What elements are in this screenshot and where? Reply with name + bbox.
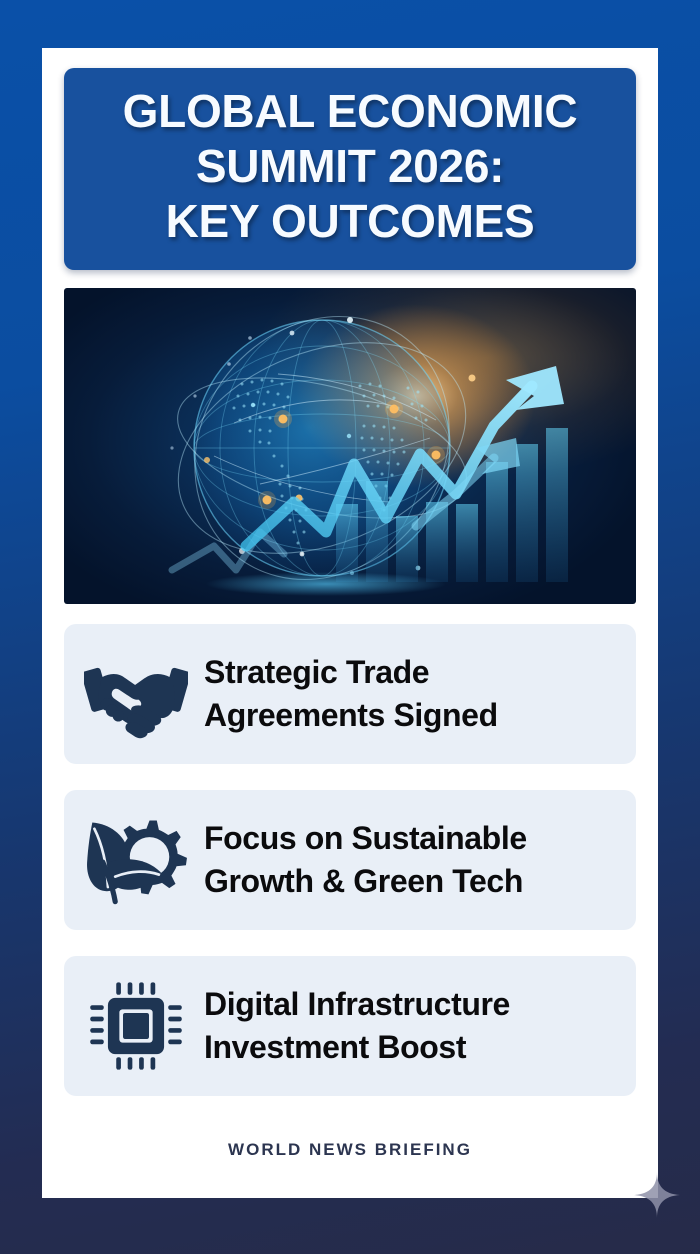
hero-image xyxy=(64,288,636,604)
outcome-label-line-1: Strategic Trade xyxy=(204,654,429,690)
page-title: GLOBAL ECONOMIC SUMMIT 2026: KEY OUTCOME… xyxy=(82,84,618,250)
outcome-label: Strategic Trade Agreements Signed xyxy=(204,651,498,736)
outcome-label-line-2: Growth & Green Tech xyxy=(204,863,523,899)
page-title-line-1: GLOBAL ECONOMIC xyxy=(82,84,618,139)
page-title-line-3: KEY OUTCOMES xyxy=(82,194,618,249)
outcome-label-line-1: Focus on Sustainable xyxy=(204,820,527,856)
outcome-label-line-2: Agreements Signed xyxy=(204,697,498,733)
outcome-card-sustainable-growth[interactable]: Focus on Sustainable Growth & Green Tech xyxy=(64,790,636,930)
outcome-label-line-2: Investment Boost xyxy=(204,1029,466,1065)
handshake-icon xyxy=(84,646,188,742)
outcome-card-trade-agreements[interactable]: Strategic Trade Agreements Signed xyxy=(64,624,636,764)
leaf-gear-icon xyxy=(84,812,188,908)
outcome-card-digital-infrastructure[interactable]: Digital Infrastructure Investment Boost xyxy=(64,956,636,1096)
outcome-label: Focus on Sustainable Growth & Green Tech xyxy=(204,817,527,902)
footer-brand-label: WORLD NEWS BRIEFING xyxy=(228,1140,472,1159)
outcome-label: Digital Infrastructure Investment Boost xyxy=(204,983,510,1068)
microchip-icon xyxy=(84,978,188,1074)
footer: WORLD NEWS BRIEFING xyxy=(64,1140,636,1198)
page-title-line-2: SUMMIT 2026: xyxy=(82,139,618,194)
poster-card: GLOBAL ECONOMIC SUMMIT 2026: KEY OUTCOME… xyxy=(42,48,658,1198)
outcome-label-line-1: Digital Infrastructure xyxy=(204,986,510,1022)
title-banner: GLOBAL ECONOMIC SUMMIT 2026: KEY OUTCOME… xyxy=(64,68,636,270)
globe-growth-chart-icon xyxy=(64,288,636,604)
outcomes-list: Strategic Trade Agreements Signed xyxy=(64,624,636,1096)
sparkle-star-icon xyxy=(634,1172,680,1218)
